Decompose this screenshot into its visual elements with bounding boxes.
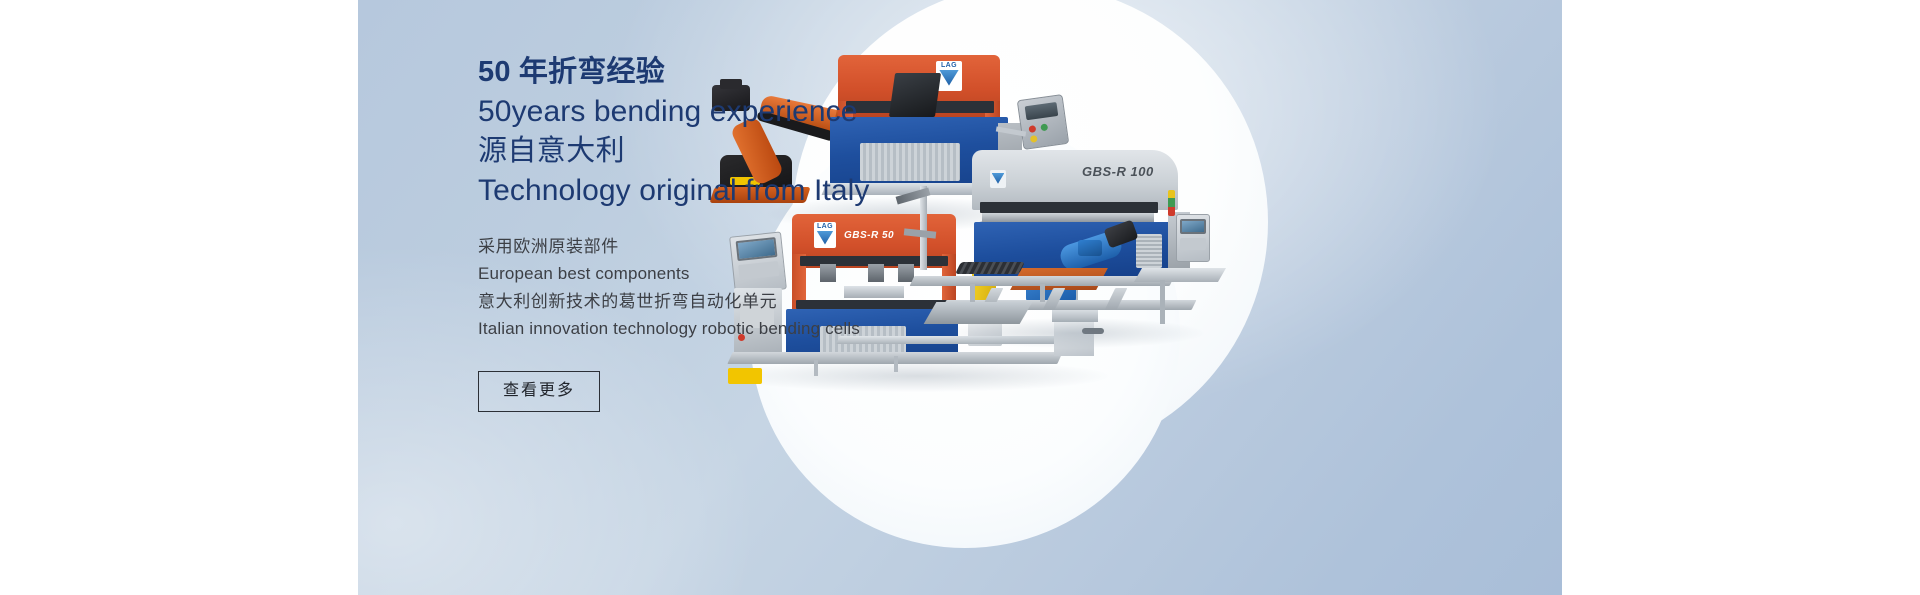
headline-line-cn-2: 源自意大利 [478,137,1098,167]
panel-keypad [1180,238,1206,250]
banner-stage: LAG [0,0,1920,595]
subcopy-block: 采用欧洲原装部件 European best components 意大利创新技… [478,233,1098,343]
headline-block: 50 年折弯经验 50years bending experience 源自意大… [478,58,1098,207]
outfeed-table-leg [1160,280,1165,324]
headline-line-cn-1: 50 年折弯经验 [478,58,1098,88]
headline-line-en-2: Technology original from Italy [478,176,1098,207]
subcopy-line-en-1: European best components [478,260,1098,288]
panel-display [1180,219,1206,235]
subcopy-line-cn-2: 意大利创新技术的葛世折弯自动化单元 [478,288,1098,316]
view-more-button[interactable]: 查看更多 [478,371,600,412]
signal-tower [1168,190,1175,216]
headline-line-en-1: 50years bending experience [478,97,1098,128]
banner-copy: 50 年折弯经验 50years bending experience 源自意大… [478,58,1098,412]
hero-banner: LAG [358,0,1562,595]
subcopy-line-cn-1: 采用欧洲原装部件 [478,233,1098,261]
side-control-panel [1176,214,1210,262]
subcopy-line-en-2: Italian innovation technology robotic be… [478,315,1098,343]
outfeed-table [1134,268,1226,282]
